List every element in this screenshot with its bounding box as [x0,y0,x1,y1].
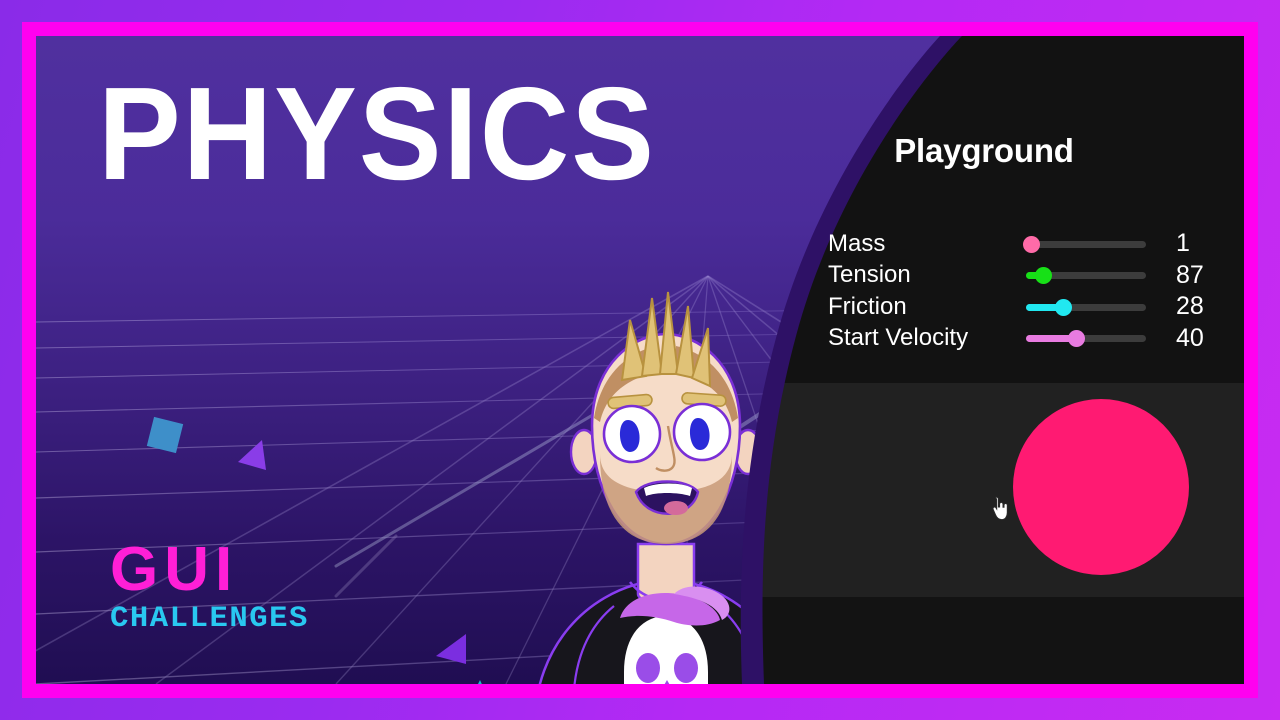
slider-thumb[interactable] [1055,299,1072,316]
slider-thumb[interactable] [1035,267,1052,284]
control-value-mass: 1 [1164,231,1226,256]
screenshot-root: PHYSICS GUI CHALLENGES [0,0,1280,720]
control-row-start-velocity: Start Velocity 40 [828,323,1226,355]
playground-app: Playground Mass 1 Tension [724,36,1244,684]
slider-start-velocity[interactable] [1024,326,1164,350]
slider-mass[interactable] [1024,232,1164,256]
slide-canvas: PHYSICS GUI CHALLENGES [36,36,1244,684]
slider-track[interactable] [1026,241,1146,248]
slider-friction[interactable] [1024,295,1164,319]
control-value-tension: 87 [1164,263,1226,288]
control-label-start-velocity: Start Velocity [828,326,1024,350]
floating-triangle-violet [232,436,272,480]
logo-secondary-text: CHALLENGES [110,604,309,634]
floating-triangle-purple [430,626,474,670]
control-value-start-velocity: 40 [1164,326,1226,351]
page-title: PHYSICS [98,68,656,200]
control-label-tension: Tension [828,263,1024,287]
control-value-friction: 28 [1164,294,1226,319]
pointer-cursor-icon [991,496,1011,522]
control-row-tension: Tension 87 [828,260,1226,292]
control-row-mass: Mass 1 [828,228,1226,260]
control-row-friction: Friction 28 [828,291,1226,323]
control-label-mass: Mass [828,232,1024,256]
control-label-friction: Friction [828,295,1024,319]
slider-thumb[interactable] [1068,330,1085,347]
controls-list: Mass 1 Tension 87 [828,228,1226,354]
physics-ball[interactable] [1013,399,1189,575]
gui-challenges-logo: GUI CHALLENGES [110,541,305,634]
slider-tension[interactable] [1024,263,1164,287]
slider-thumb[interactable] [1023,236,1040,253]
panel-title: Playground [724,132,1244,170]
logo-primary-text: GUI [110,541,305,600]
floating-square-blue [144,414,188,458]
